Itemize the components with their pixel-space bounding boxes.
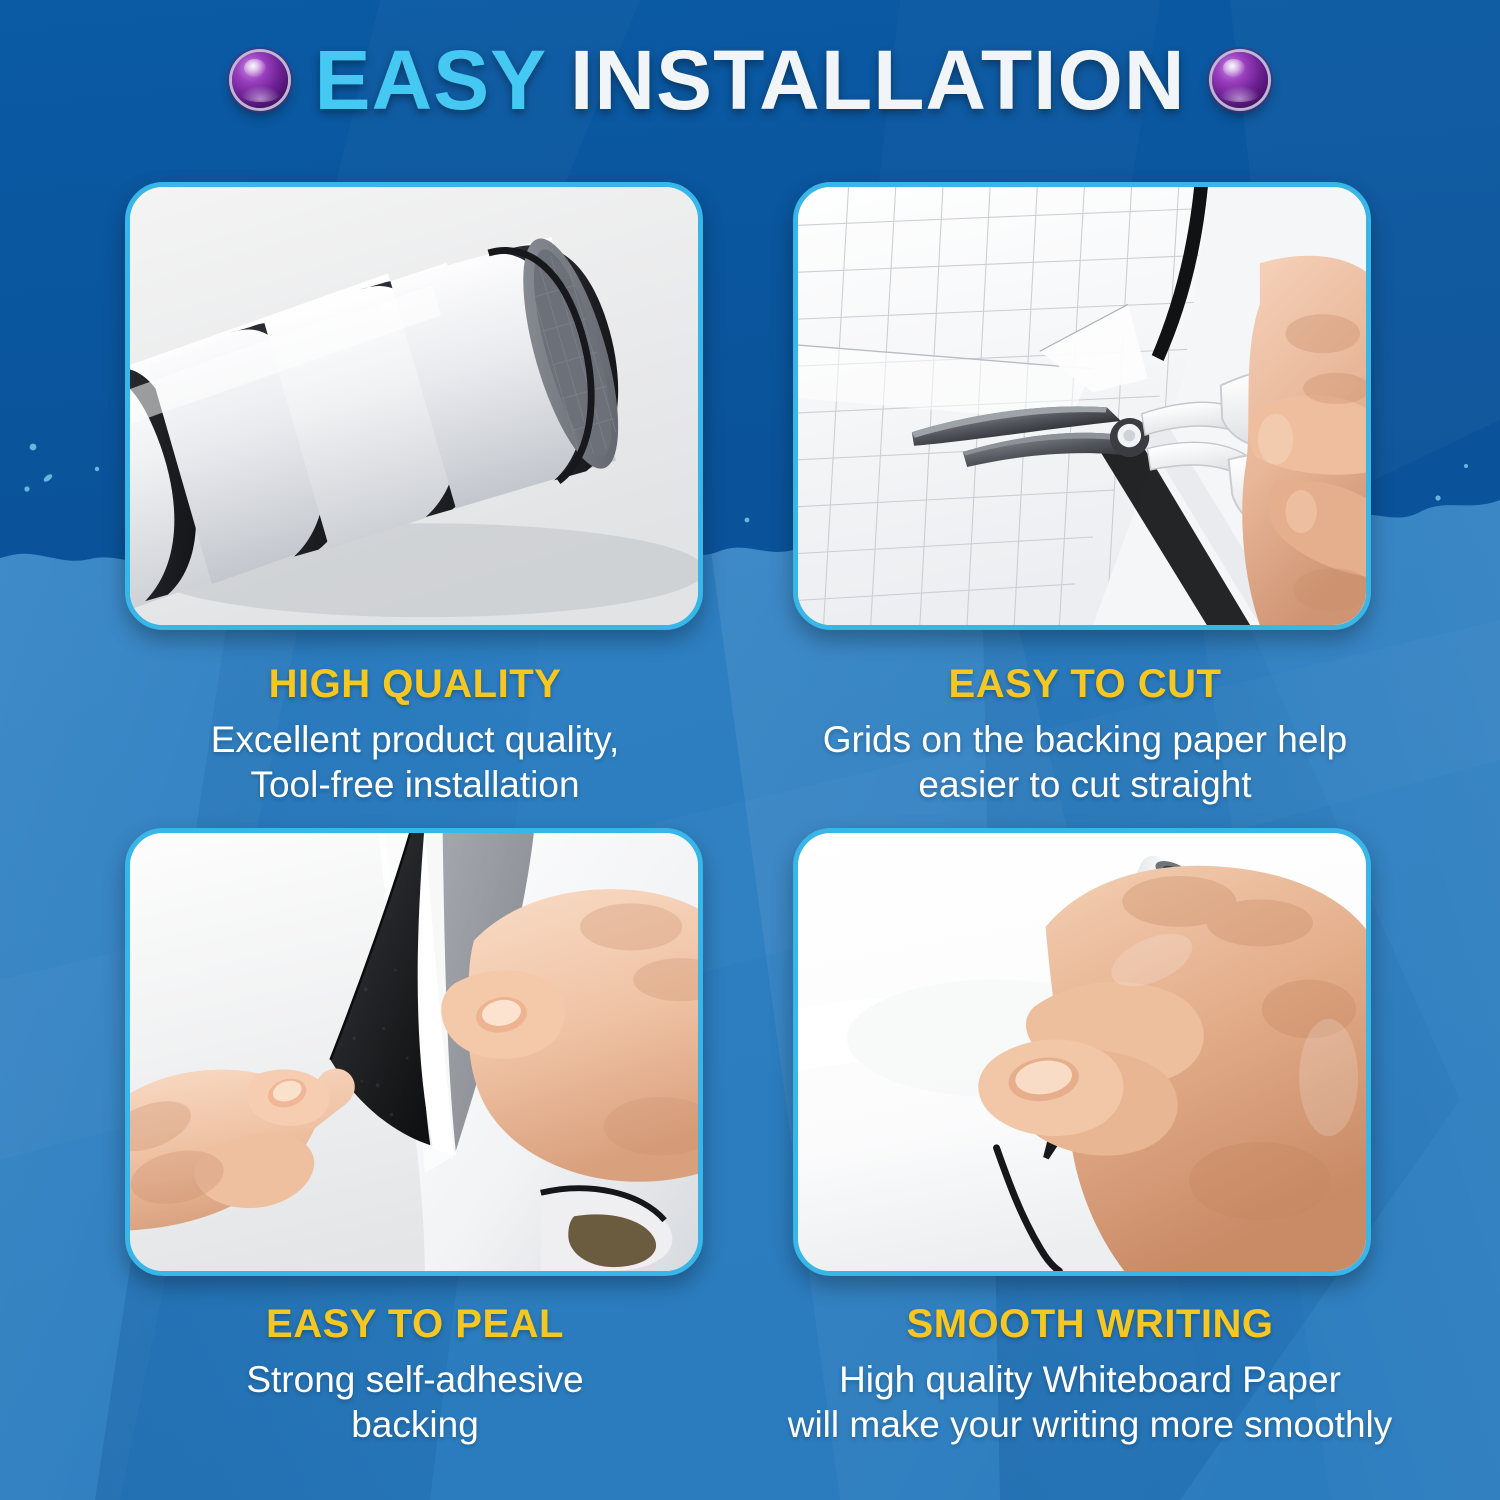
caption-line-1: Excellent product quality, [105, 717, 725, 762]
photo-peeling-adhesive-backing [125, 828, 703, 1276]
caption-easy-to-cut: EASY TO CUT Grids on the backing paper h… [775, 660, 1395, 807]
caption-line-1: High quality Whiteboard Paper [760, 1357, 1420, 1402]
purple-magnet-icon-left [232, 52, 288, 108]
caption-title-easy-to-cut: EASY TO CUT [775, 660, 1395, 709]
purple-magnet-icon-right [1212, 52, 1268, 108]
feature-card-smooth-writing: NO.1 JW-528 529 JIAWEI [793, 828, 1371, 1276]
caption-title-smooth-writing: SMOOTH WRITING [760, 1300, 1420, 1349]
page-title: EASY INSTALLATION [314, 38, 1185, 122]
caption-title-easy-to-peal: EASY TO PEAL [105, 1300, 725, 1349]
header-banner: EASY INSTALLATION [0, 0, 1500, 160]
photo-cutting-with-scissors [793, 182, 1371, 630]
caption-body-easy-to-cut: Grids on the backing paper help easier t… [775, 717, 1395, 807]
caption-smooth-writing: SMOOTH WRITING High quality Whiteboard P… [760, 1300, 1420, 1447]
caption-easy-to-peal: EASY TO PEAL Strong self-adhesive backin… [105, 1300, 725, 1447]
page-title-main: INSTALLATION [570, 33, 1185, 127]
photo-rolled-whiteboard-sheet [125, 182, 703, 630]
feature-card-easy-to-cut [793, 182, 1371, 630]
caption-line-2: will make your writing more smoothly [760, 1402, 1420, 1447]
feature-card-high-quality [125, 182, 703, 630]
caption-title-high-quality: HIGH QUALITY [105, 660, 725, 709]
caption-line-2: Tool-free installation [105, 762, 725, 807]
caption-body-smooth-writing: High quality Whiteboard Paper will make … [760, 1357, 1420, 1447]
caption-line-1: Grids on the backing paper help [775, 717, 1395, 762]
caption-line-2: backing [105, 1402, 725, 1447]
caption-line-2: easier to cut straight [775, 762, 1395, 807]
page-title-accent: EASY [314, 33, 545, 127]
caption-line-1: Strong self-adhesive [105, 1357, 725, 1402]
caption-high-quality: HIGH QUALITY Excellent product quality, … [105, 660, 725, 807]
caption-body-easy-to-peal: Strong self-adhesive backing [105, 1357, 725, 1447]
photo-writing-with-marker: NO.1 JW-528 529 JIAWEI [793, 828, 1371, 1276]
caption-body-high-quality: Excellent product quality, Tool-free ins… [105, 717, 725, 807]
feature-card-easy-to-peal [125, 828, 703, 1276]
